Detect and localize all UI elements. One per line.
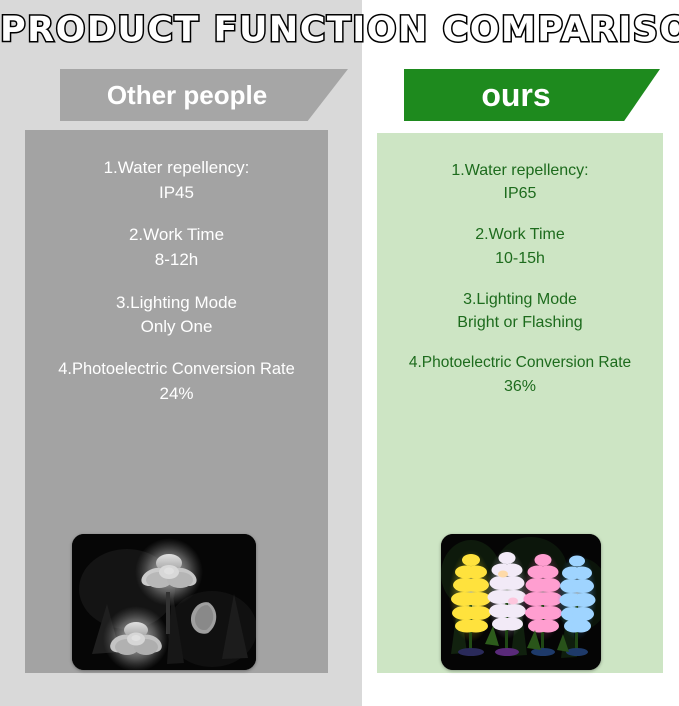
spec-label: 3.Lighting Mode <box>377 288 663 311</box>
spec-value: Only One <box>25 315 328 340</box>
spec-row: 2.Work Time 8-12h <box>25 223 328 272</box>
banner-ours: ours <box>404 69 660 121</box>
spec-row: 1.Water repellency: IP45 <box>25 156 328 205</box>
spec-label: 1.Water repellency: <box>377 159 663 182</box>
spec-row: 1.Water repellency: IP65 <box>377 159 663 205</box>
spec-value: IP65 <box>377 182 663 205</box>
spec-list-ours: 1.Water repellency: IP65 2.Work Time 10-… <box>377 133 663 416</box>
page-title: PRODUCT FUNCTION COMPARISON <box>0 8 679 52</box>
spec-value: 36% <box>377 375 663 398</box>
spec-value: 8-12h <box>25 248 328 273</box>
spec-value: 24% <box>25 382 328 407</box>
spec-label: 1.Water repellency: <box>25 156 328 181</box>
spec-row: 4.Photoelectric Conversion Rate 24% <box>25 358 328 407</box>
grayscale-flower-lights-image <box>72 534 256 670</box>
spec-row: 3.Lighting Mode Bright or Flashing <box>377 288 663 334</box>
banner-other-people: Other people <box>60 69 348 121</box>
spec-value: IP45 <box>25 181 328 206</box>
banner-other-people-label: Other people <box>107 80 267 111</box>
product-photo-ours <box>441 534 601 670</box>
banner-ours-label: ours <box>481 77 550 114</box>
spec-value: 10-15h <box>377 247 663 270</box>
spec-row: 2.Work Time 10-15h <box>377 223 663 269</box>
comparison-infographic: PRODUCT FUNCTION COMPARISON Other people… <box>0 0 679 706</box>
spec-label: 2.Work Time <box>25 223 328 248</box>
spec-row: 4.Photoelectric Conversion Rate 36% <box>377 352 663 398</box>
product-photo-other-people <box>72 534 256 670</box>
spec-label: 4.Photoelectric Conversion Rate <box>25 358 328 382</box>
colorful-flower-lights-image <box>441 534 601 670</box>
spec-list-other-people: 1.Water repellency: IP45 2.Work Time 8-1… <box>25 130 328 424</box>
spec-label: 3.Lighting Mode <box>25 291 328 316</box>
spec-label: 2.Work Time <box>377 223 663 246</box>
spec-value: Bright or Flashing <box>377 311 663 334</box>
spec-row: 3.Lighting Mode Only One <box>25 291 328 340</box>
spec-label: 4.Photoelectric Conversion Rate <box>377 352 663 374</box>
